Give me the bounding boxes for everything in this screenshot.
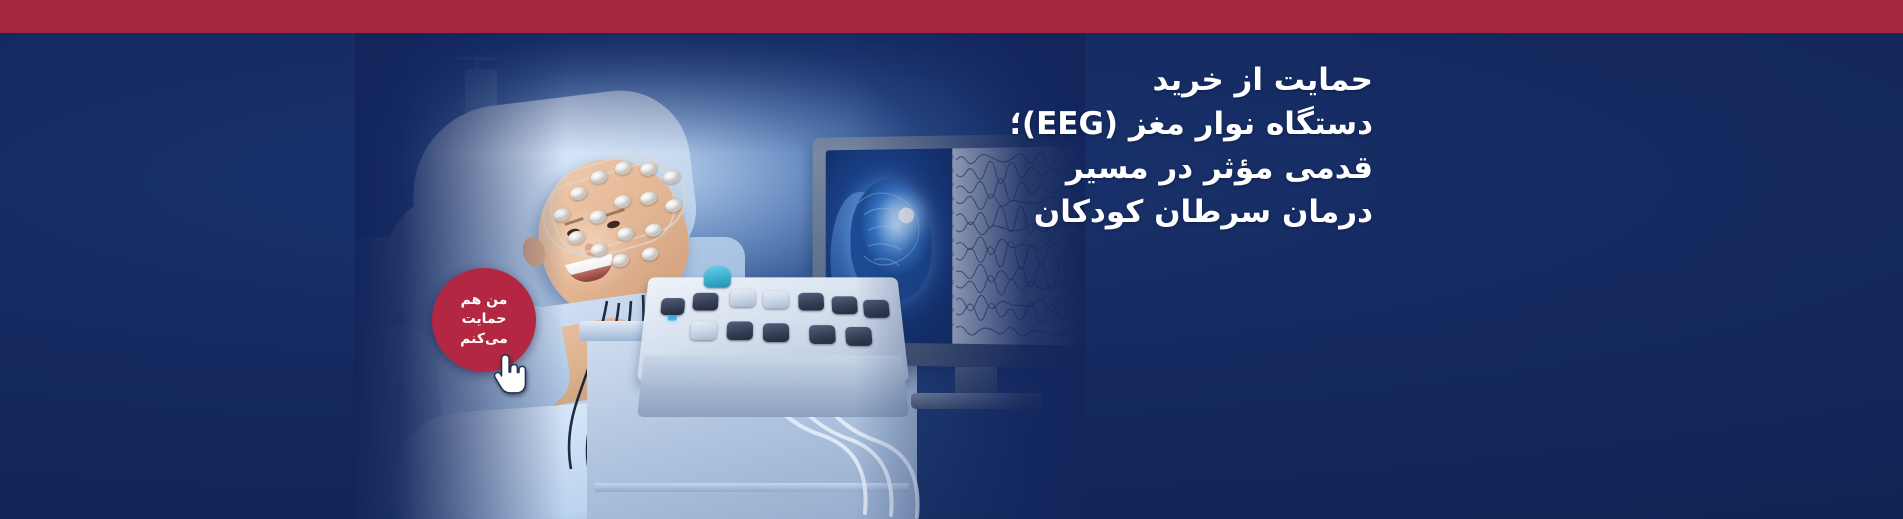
cta-line-3: می‌کنم [460, 330, 508, 349]
cta-line-1: من هم [461, 291, 508, 310]
eeg-campaign-banner: Fp1Fp2 F3F4 C3C4 P3P4 O1O2 T3T4 Fz [0, 0, 1903, 519]
headline-line-2: دستگاه نوار مغز (EEG)؛ [903, 102, 1373, 146]
headline-line-4: درمان سرطان کودکان [903, 190, 1373, 234]
cta-line-2: حمایت [462, 310, 507, 329]
top-accent-bar [0, 0, 1903, 33]
headline-line-1: حمایت از خرید [903, 58, 1373, 102]
headline-line-3: قدمی مؤثر در مسیر [903, 146, 1373, 190]
pointing-hand-cursor [492, 352, 530, 396]
headline-block: حمایت از خرید دستگاه نوار مغز (EEG)؛ قدم… [903, 58, 1373, 234]
